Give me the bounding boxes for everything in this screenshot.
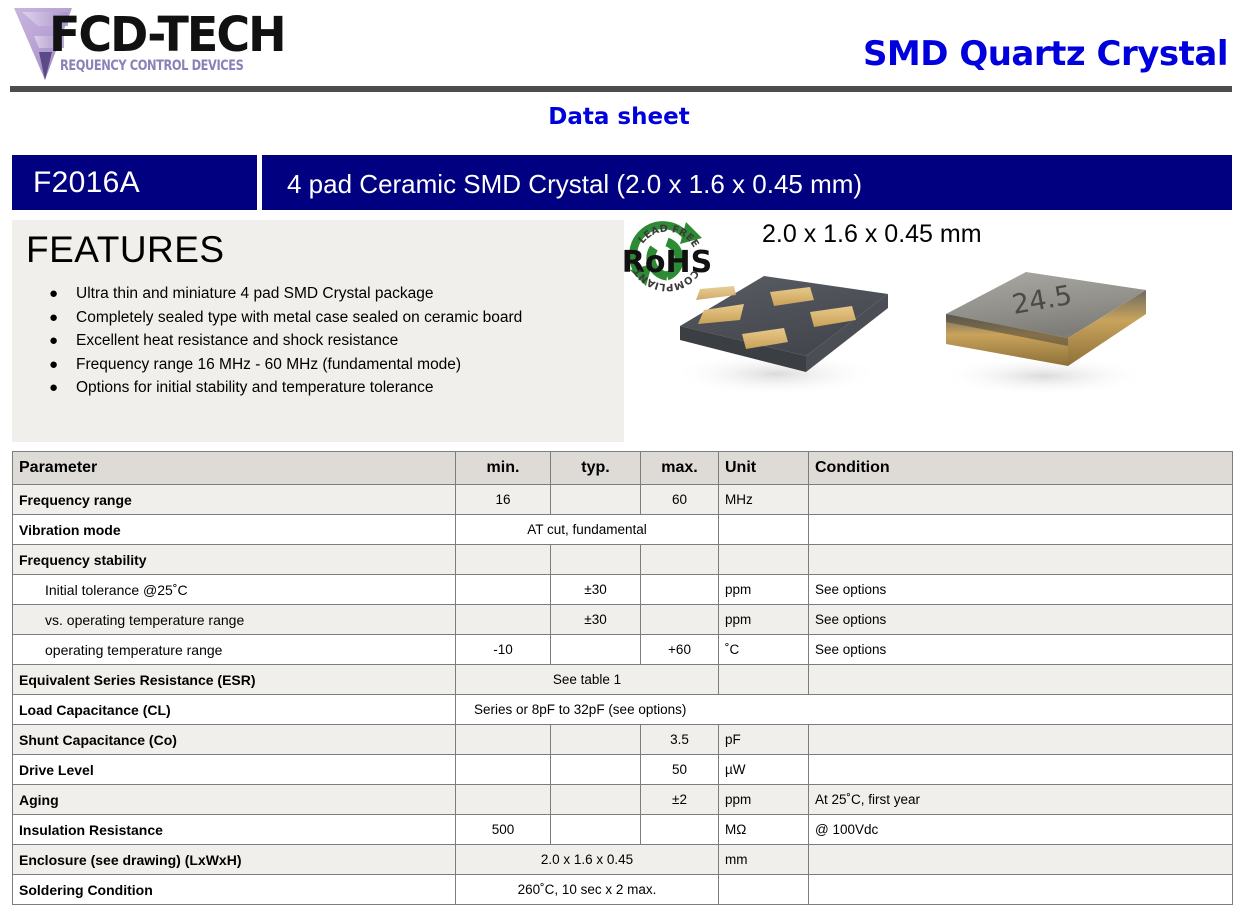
row-parameter: Enclosure (see drawing) (LxWxH)	[13, 845, 456, 875]
row-unit: mm	[719, 845, 809, 875]
row-unit	[719, 515, 809, 545]
table-row: Initial tolerance @25˚C ±30 ppm See opti…	[13, 575, 1233, 605]
table-header-row: Parameter min. typ. max. Unit Condition	[13, 452, 1233, 485]
features-list: ● Ultra thin and miniature 4 pad SMD Cry…	[42, 282, 624, 400]
row-parameter: Equivalent Series Resistance (ESR)	[13, 665, 456, 695]
row-parameter: Shunt Capacitance (Co)	[13, 725, 456, 755]
row-span-value: Series or 8pF to 32pF (see options)	[456, 695, 1233, 725]
row-condition: At 25˚C, first year	[809, 785, 1233, 815]
feature-text: Frequency range 16 MHz - 60 MHz (fundame…	[76, 356, 461, 373]
table-row: Load Capacitance (CL) Series or 8pF to 3…	[13, 695, 1233, 725]
table-row: Frequency stability	[13, 545, 1233, 575]
features-panel: FEATURES ● Ultra thin and miniature 4 pa…	[12, 220, 624, 442]
row-condition	[809, 845, 1233, 875]
row-condition	[809, 755, 1233, 785]
row-unit: ˚C	[719, 635, 809, 665]
row-unit	[719, 665, 809, 695]
table-row: Equivalent Series Resistance (ESR) See t…	[13, 665, 1233, 695]
row-parameter: Vibration mode	[13, 515, 456, 545]
row-span-value: AT cut, fundamental	[456, 515, 719, 545]
row-min	[456, 785, 551, 815]
row-unit: pF	[719, 725, 809, 755]
row-parameter: operating temperature range	[13, 635, 456, 665]
row-parameter: Load Capacitance (CL)	[13, 695, 456, 725]
row-condition	[809, 875, 1233, 905]
row-typ: ±30	[551, 575, 641, 605]
row-parameter: Aging	[13, 785, 456, 815]
row-min	[456, 755, 551, 785]
table-row: Aging ±2 ppm At 25˚C, first year	[13, 785, 1233, 815]
list-item: ● Frequency range 16 MHz - 60 MHz (funda…	[42, 353, 624, 377]
row-parameter: Initial tolerance @25˚C	[13, 575, 456, 605]
table-row: vs. operating temperature range ±30 ppm …	[13, 605, 1233, 635]
row-unit: MΩ	[719, 815, 809, 845]
row-min: -10	[456, 635, 551, 665]
list-item: ● Ultra thin and miniature 4 pad SMD Cry…	[42, 282, 624, 306]
row-condition	[809, 515, 1233, 545]
row-condition	[809, 545, 1233, 575]
row-min	[456, 725, 551, 755]
row-condition: See options	[809, 635, 1233, 665]
row-unit: MHz	[719, 485, 809, 515]
column-header-typ: typ.	[551, 452, 641, 485]
row-max	[641, 815, 719, 845]
row-typ	[551, 725, 641, 755]
row-max: ±2	[641, 785, 719, 815]
feature-text: Completely sealed type with metal case s…	[76, 309, 522, 326]
row-typ	[551, 755, 641, 785]
specification-table: Parameter min. typ. max. Unit Condition …	[12, 451, 1233, 905]
column-header-min: min.	[456, 452, 551, 485]
page-header: FCD-TECH REQUENCY CONTROL DEVICES SMD Qu…	[0, 0, 1238, 92]
header-divider	[10, 86, 1232, 92]
column-header-condition: Condition	[809, 452, 1233, 485]
table-row: Enclosure (see drawing) (LxWxH) 2.0 x 1.…	[13, 845, 1233, 875]
row-max	[641, 575, 719, 605]
row-max	[641, 605, 719, 635]
smd-crystal-lid-photo: 24.5	[946, 272, 1146, 366]
row-typ: ±30	[551, 605, 641, 635]
row-condition	[809, 485, 1233, 515]
bullet-icon: ●	[49, 329, 58, 353]
document-kind-label: Data sheet	[0, 104, 1238, 130]
table-row: Shunt Capacitance (Co) 3.5 pF	[13, 725, 1233, 755]
row-condition: See options	[809, 605, 1233, 635]
row-min: 500	[456, 815, 551, 845]
column-header-max: max.	[641, 452, 719, 485]
product-photo: 24.5 RoHS LEAD FREE COMPLIANT	[624, 214, 1238, 442]
row-typ	[551, 815, 641, 845]
company-logo: FCD-TECH REQUENCY CONTROL DEVICES	[12, 4, 227, 82]
list-item: ● Completely sealed type with metal case…	[42, 306, 624, 330]
bullet-icon: ●	[49, 353, 58, 377]
column-header-parameter: Parameter	[13, 452, 456, 485]
row-parameter: Soldering Condition	[13, 875, 456, 905]
row-unit: ppm	[719, 605, 809, 635]
product-description-bar: 4 pad Ceramic SMD Crystal (2.0 x 1.6 x 0…	[262, 155, 1232, 210]
row-typ	[551, 785, 641, 815]
row-parameter: Frequency range	[13, 485, 456, 515]
row-unit	[719, 545, 809, 575]
row-unit: µW	[719, 755, 809, 785]
feature-text: Excellent heat resistance and shock resi…	[76, 332, 398, 349]
row-min: 16	[456, 485, 551, 515]
row-unit: ppm	[719, 785, 809, 815]
table-row: operating temperature range -10 +60 ˚C S…	[13, 635, 1233, 665]
row-condition	[809, 725, 1233, 755]
row-parameter: vs. operating temperature range	[13, 605, 456, 635]
bullet-icon: ●	[49, 282, 58, 306]
row-max: 50	[641, 755, 719, 785]
row-max	[641, 545, 719, 575]
row-max: +60	[641, 635, 719, 665]
column-header-unit: Unit	[719, 452, 809, 485]
table-row: Frequency range 16 60 MHz	[13, 485, 1233, 515]
document-type-title: SMD Quartz Crystal	[863, 34, 1228, 74]
row-min	[456, 545, 551, 575]
feature-text: Ultra thin and miniature 4 pad SMD Cryst…	[76, 285, 434, 302]
row-span-value: 260˚C, 10 sec x 2 max.	[456, 875, 719, 905]
logo-subtitle: REQUENCY CONTROL DEVICES	[60, 56, 228, 74]
row-condition: See options	[809, 575, 1233, 605]
list-item: ● Excellent heat resistance and shock re…	[42, 329, 624, 353]
rohs-compliant-icon: RoHS LEAD FREE COMPLIANT	[624, 222, 712, 292]
product-description-label: 4 pad Ceramic SMD Crystal (2.0 x 1.6 x 0…	[262, 155, 1232, 200]
table-row: Vibration mode AT cut, fundamental	[13, 515, 1233, 545]
row-typ	[551, 545, 641, 575]
row-parameter: Insulation Resistance	[13, 815, 456, 845]
row-max: 3.5	[641, 725, 719, 755]
list-item: ● Options for initial stability and temp…	[42, 376, 624, 400]
part-number-label: F2016A	[12, 155, 257, 200]
row-unit: ppm	[719, 575, 809, 605]
table-row: Soldering Condition 260˚C, 10 sec x 2 ma…	[13, 875, 1233, 905]
row-max: 60	[641, 485, 719, 515]
row-parameter: Frequency stability	[13, 545, 456, 575]
row-min	[456, 605, 551, 635]
bullet-icon: ●	[49, 306, 58, 330]
table-row: Insulation Resistance 500 MΩ @ 100Vdc	[13, 815, 1233, 845]
features-heading: FEATURES	[26, 229, 225, 271]
row-condition	[809, 665, 1233, 695]
feature-text: Options for initial stability and temper…	[76, 379, 434, 396]
row-condition: @ 100Vdc	[809, 815, 1233, 845]
product-photo-panel: 2.0 x 1.6 x 0.45 mm	[624, 214, 1238, 442]
row-unit	[719, 875, 809, 905]
part-number-bar: F2016A	[12, 155, 257, 210]
row-span-value: 2.0 x 1.6 x 0.45	[456, 845, 719, 875]
row-min	[456, 575, 551, 605]
table-row: Drive Level 50 µW	[13, 755, 1233, 785]
row-typ	[551, 635, 641, 665]
row-typ	[551, 485, 641, 515]
bullet-icon: ●	[49, 376, 58, 400]
row-parameter: Drive Level	[13, 755, 456, 785]
row-span-value: See table 1	[456, 665, 719, 695]
